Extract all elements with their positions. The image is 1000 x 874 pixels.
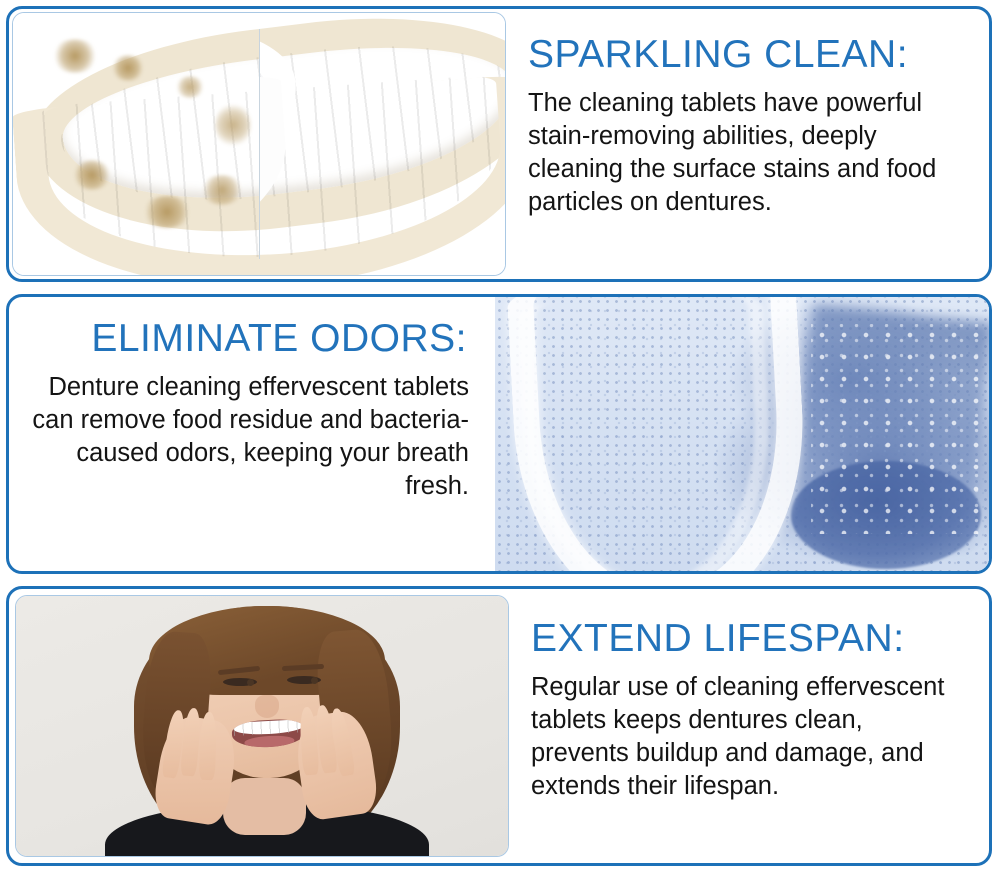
extend-lifespan-copy: EXTEND LIFESPAN: Regular use of cleaning… — [509, 589, 989, 863]
panel-body-sparkling-clean: The cleaning tablets have powerful stain… — [528, 87, 967, 220]
panel-body-eliminate-odors: Denture cleaning effervescent tablets ca… — [27, 371, 469, 504]
feature-panel-extend-lifespan: EXTEND LIFESPAN: Regular use of cleaning… — [6, 586, 992, 866]
neck — [223, 778, 307, 835]
denture-comparison-scene — [13, 13, 505, 275]
sparkling-clean-copy: SPARKLING CLEAN: The cleaning tablets ha… — [506, 9, 989, 279]
iris-right — [311, 677, 318, 684]
effervescent-tablet-image — [495, 297, 989, 571]
stain-blotch — [175, 76, 205, 98]
iris-left — [247, 679, 254, 686]
smiling-woman-image — [15, 595, 509, 857]
stain-blotch — [52, 39, 98, 73]
feature-panel-eliminate-odors: ELIMINATE ODORS: Denture cleaning efferv… — [6, 294, 992, 574]
feature-panel-sparkling-clean: SPARKLING CLEAN: The cleaning tablets ha… — [6, 6, 992, 282]
infographic-board: SPARKLING CLEAN: The cleaning tablets ha… — [0, 0, 1000, 874]
stain-blotch — [215, 102, 251, 148]
cleaned-denture-half — [259, 13, 505, 275]
fizzing-water-scene — [495, 297, 989, 571]
eliminate-odors-copy: ELIMINATE ODORS: Denture cleaning efferv… — [9, 297, 495, 571]
portrait-scene — [16, 596, 508, 856]
aligner-highlight — [517, 297, 778, 571]
bubble-cluster — [811, 324, 989, 534]
panel-heading-extend-lifespan: EXTEND LIFESPAN: — [531, 619, 967, 659]
panel-heading-eliminate-odors: ELIMINATE ODORS: — [91, 319, 467, 359]
before-after-divider — [259, 29, 260, 260]
panel-body-extend-lifespan: Regular use of cleaning effervescent tab… — [531, 671, 967, 804]
denture-before-after-image — [12, 12, 506, 276]
stain-blotch — [72, 160, 112, 190]
panel-heading-sparkling-clean: SPARKLING CLEAN: — [528, 35, 967, 75]
